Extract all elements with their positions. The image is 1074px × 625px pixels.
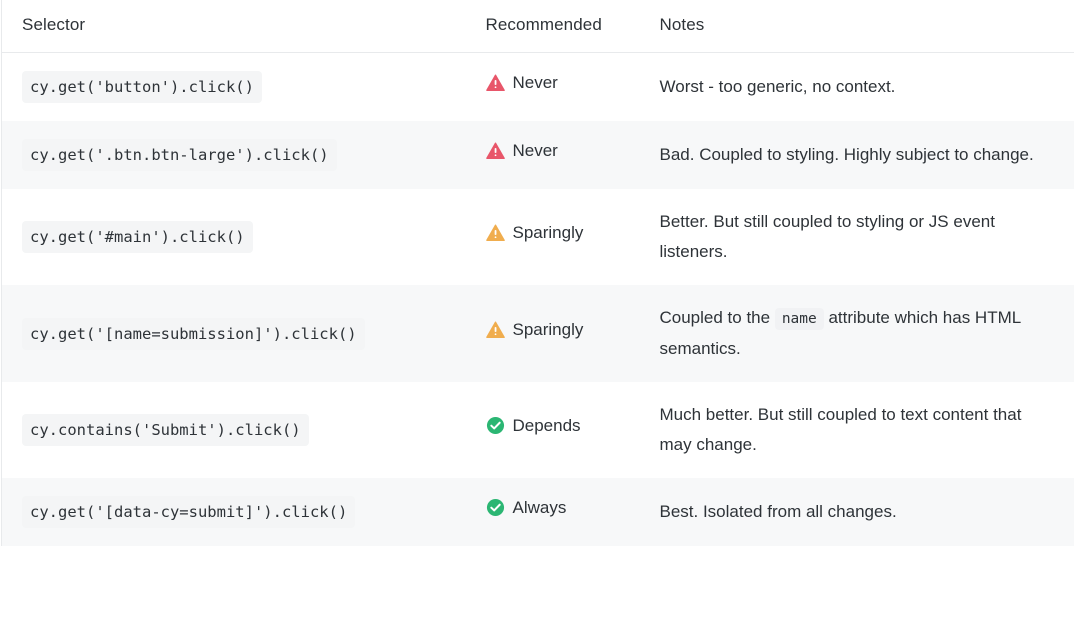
cell-selector: cy.get('[name=submission]').click() (2, 285, 474, 382)
recommendation-label: Sparingly (513, 222, 584, 244)
check-circle-green-icon (486, 416, 505, 435)
notes-text-before: Much better. But still coupled to text c… (660, 405, 1022, 454)
recommendation-badge: Never (486, 140, 558, 162)
recommendation-label: Sparingly (513, 319, 584, 341)
notes-text-before: Better. But still coupled to styling or … (660, 212, 995, 261)
table-row: cy.get('[data-cy=submit]').click()Always… (2, 478, 1074, 546)
selector-code: cy.get('[data-cy=submit]').click() (22, 496, 355, 528)
cell-selector: cy.contains('Submit').click() (2, 382, 474, 478)
cell-selector: cy.get('.btn.btn-large').click() (2, 121, 474, 189)
cell-recommended: Never (474, 121, 650, 189)
notes-text: Bad. Coupled to styling. Highly subject … (660, 140, 1053, 170)
recommendation-label: Never (513, 72, 558, 94)
warning-triangle-amber-icon (486, 224, 505, 243)
notes-text: Best. Isolated from all changes. (660, 497, 1053, 527)
column-header-notes: Notes (650, 0, 1074, 53)
column-header-recommended: Recommended (474, 0, 650, 53)
cell-selector: cy.get('[data-cy=submit]').click() (2, 478, 474, 546)
table-row: cy.get('[name=submission]').click()Spari… (2, 285, 1074, 382)
warning-triangle-amber-icon (486, 320, 505, 339)
recommendation-label: Depends (513, 415, 581, 437)
recommendation-badge: Always (486, 497, 567, 519)
column-header-selector: Selector (2, 0, 474, 53)
selector-code: cy.get('button').click() (22, 71, 262, 103)
table-row: cy.contains('Submit').click()DependsMuch… (2, 382, 1074, 478)
selector-code: cy.contains('Submit').click() (22, 414, 309, 446)
check-circle-green-icon (486, 498, 505, 517)
cell-notes: Coupled to the name attribute which has … (650, 285, 1074, 382)
selector-code: cy.get('#main').click() (22, 221, 253, 253)
cell-selector: cy.get('button').click() (2, 53, 474, 122)
cell-selector: cy.get('#main').click() (2, 189, 474, 285)
recommendation-badge: Sparingly (486, 319, 584, 341)
recommendation-badge: Never (486, 72, 558, 94)
table-body: cy.get('button').click()NeverWorst - too… (2, 53, 1074, 547)
cell-recommended: Depends (474, 382, 650, 478)
cell-recommended: Always (474, 478, 650, 546)
selector-best-practices-table: Selector Recommended Notes cy.get('butto… (1, 0, 1074, 546)
cell-recommended: Never (474, 53, 650, 122)
recommendation-label: Never (513, 140, 558, 162)
table-row: cy.get('button').click()NeverWorst - too… (2, 53, 1074, 122)
table-row: cy.get('#main').click()SparinglyBetter. … (2, 189, 1074, 285)
selector-code: cy.get('.btn.btn-large').click() (22, 139, 337, 171)
cell-recommended: Sparingly (474, 285, 650, 382)
cell-notes: Bad. Coupled to styling. Highly subject … (650, 121, 1074, 189)
notes-text: Worst - too generic, no context. (660, 72, 1053, 102)
recommendation-badge: Sparingly (486, 222, 584, 244)
notes-text-before: Worst - too generic, no context. (660, 77, 896, 96)
cell-notes: Best. Isolated from all changes. (650, 478, 1074, 546)
table-header-row: Selector Recommended Notes (2, 0, 1074, 53)
notes-text: Much better. But still coupled to text c… (660, 400, 1053, 460)
warning-triangle-red-icon (486, 142, 505, 161)
notes-text-before: Best. Isolated from all changes. (660, 502, 897, 521)
recommendation-label: Always (513, 497, 567, 519)
notes-text-before: Coupled to the (660, 308, 775, 327)
notes-inline-code: name (775, 308, 824, 330)
table-row: cy.get('.btn.btn-large').click()NeverBad… (2, 121, 1074, 189)
notes-text: Better. But still coupled to styling or … (660, 207, 1053, 267)
cell-notes: Better. But still coupled to styling or … (650, 189, 1074, 285)
selector-table-container: Selector Recommended Notes cy.get('butto… (0, 0, 1074, 546)
cell-notes: Much better. But still coupled to text c… (650, 382, 1074, 478)
warning-triangle-red-icon (486, 74, 505, 93)
selector-code: cy.get('[name=submission]').click() (22, 318, 365, 350)
notes-text: Coupled to the name attribute which has … (660, 303, 1053, 364)
recommendation-badge: Depends (486, 415, 581, 437)
cell-recommended: Sparingly (474, 189, 650, 285)
table-header: Selector Recommended Notes (2, 0, 1074, 53)
cell-notes: Worst - too generic, no context. (650, 53, 1074, 122)
notes-text-before: Bad. Coupled to styling. Highly subject … (660, 145, 1034, 164)
